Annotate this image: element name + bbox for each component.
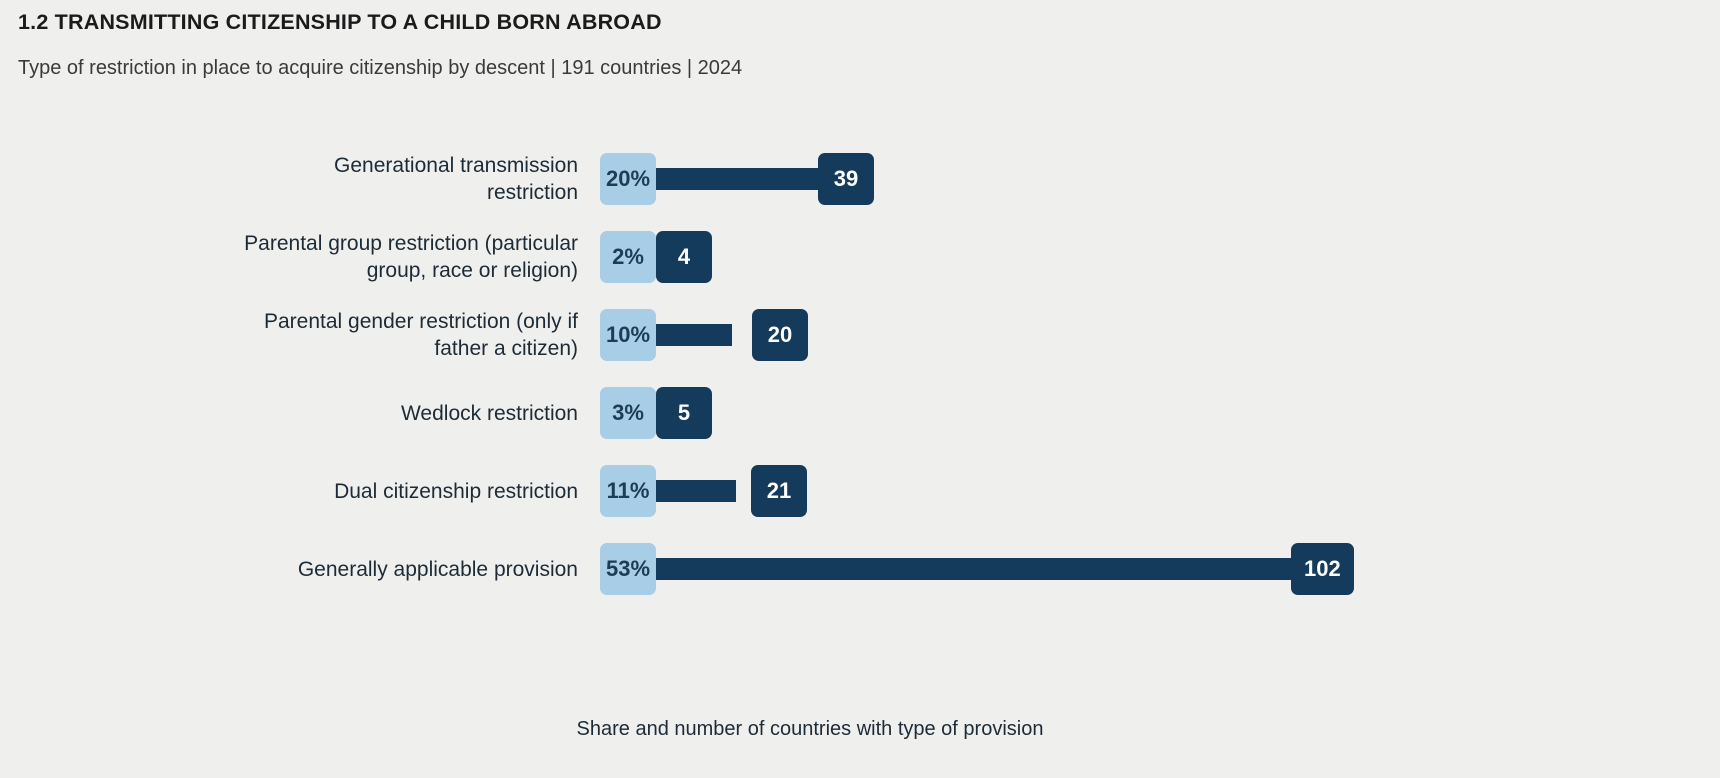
chart-plot-area: Generational transmission restriction20%… [0,140,1720,620]
row-bar: 20%39 [600,149,1720,209]
chart-row: Wedlock restriction3%5 [0,374,1720,452]
chart-row: Parental group restriction (particular g… [0,218,1720,296]
chart-row: Generally applicable provision53%102 [0,530,1720,608]
chart-row: Parental gender restriction (only if fat… [0,296,1720,374]
chart-subtitle: Type of restriction in place to acquire … [18,35,1618,80]
chart-row: Dual citizenship restriction11%21 [0,452,1720,530]
percent-badge: 20% [600,153,656,205]
bar-connector [600,558,1300,580]
value-box: 4 [656,231,712,283]
percent-badge: 2% [600,231,656,283]
row-label: Generational transmission restriction [0,152,600,206]
row-bar: 3%5 [600,383,1720,443]
page-title: 1.2 TRANSMITTING CITIZENSHIP TO A CHILD … [18,10,1618,35]
value-box: 20 [752,309,808,361]
percent-badge: 53% [600,543,656,595]
percent-badge: 11% [600,465,656,517]
row-bar: 53%102 [600,539,1720,599]
row-label: Dual citizenship restriction [0,478,600,505]
chart-header: 1.2 TRANSMITTING CITIZENSHIP TO A CHILD … [18,10,1618,80]
chart-row: Generational transmission restriction20%… [0,140,1720,218]
axis-caption-text: Share and number of countries with type … [577,718,1044,741]
row-label: Wedlock restriction [0,400,600,427]
row-bar: 11%21 [600,461,1720,521]
row-bar: 10%20 [600,305,1720,365]
row-label: Generally applicable provision [0,556,600,583]
chart-page: 1.2 TRANSMITTING CITIZENSHIP TO A CHILD … [0,0,1720,778]
value-box: 39 [818,153,874,205]
value-box: 102 [1291,543,1354,595]
row-label: Parental group restriction (particular g… [0,230,600,284]
row-label: Parental gender restriction (only if fat… [0,308,600,362]
value-box: 21 [751,465,807,517]
percent-badge: 3% [600,387,656,439]
row-bar: 2%4 [600,227,1720,287]
value-box: 5 [656,387,712,439]
percent-badge: 10% [600,309,656,361]
axis-caption: Share and number of countries with type … [0,718,1720,741]
